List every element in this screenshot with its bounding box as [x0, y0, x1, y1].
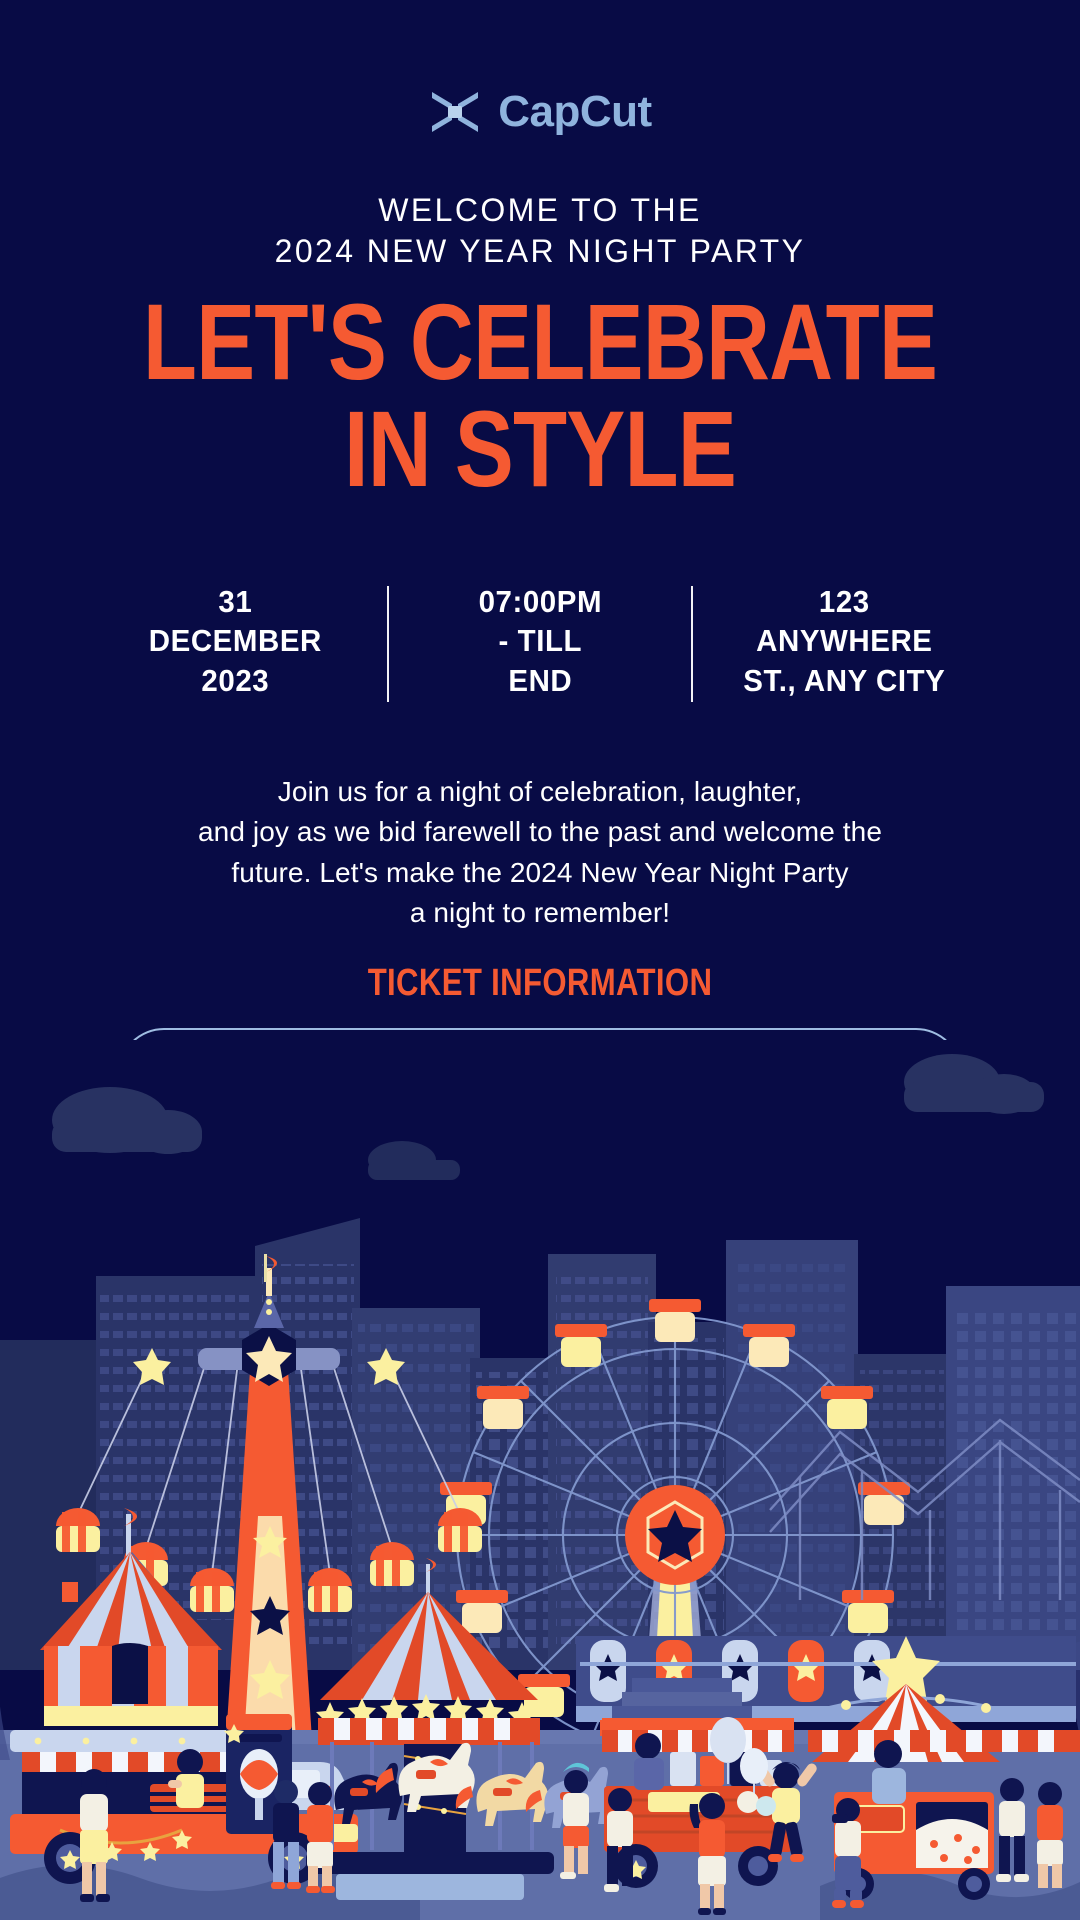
event-description: Join us for a night of celebration, laug… — [70, 772, 1010, 933]
headline-line-1: LET'S CELEBRATE — [97, 296, 983, 389]
welcome-heading: WELCOME TO THE 2024 NEW YEAR NIGHT PARTY — [0, 190, 1080, 272]
event-date-month: DECEMBER — [92, 621, 380, 660]
event-date-year: 2023 — [92, 661, 380, 700]
description-line-1: Join us for a night of celebration, laug… — [70, 772, 1010, 812]
event-location: 123 ANYWHERE ST., ANY CITY — [701, 582, 989, 704]
event-time-till: - TILL — [396, 621, 684, 660]
poster-canvas: CapCut WELCOME TO THE 2024 NEW YEAR NIGH… — [0, 0, 1080, 1920]
description-line-4: a night to remember! — [70, 893, 1010, 933]
event-location-street: ANYWHERE — [701, 621, 989, 660]
event-time: 07:00PM - TILL END — [396, 582, 684, 704]
headline-line-2: IN STYLE — [97, 403, 983, 496]
welcome-line-1: WELCOME TO THE — [0, 190, 1080, 231]
carnival-scene-svg — [0, 1040, 1080, 1920]
details-divider-2 — [691, 586, 693, 702]
event-time-start: 07:00PM — [396, 582, 684, 621]
capcut-logo-icon — [428, 88, 482, 136]
welcome-line-2: 2024 NEW YEAR NIGHT PARTY — [0, 231, 1080, 272]
night-carnival-illustration — [0, 1040, 1080, 1920]
ticket-information-label: TICKET INFORMATION — [97, 962, 983, 1005]
page-title: LET'S CELEBRATE IN STYLE — [0, 296, 1080, 496]
event-date: 31 DECEMBER 2023 — [92, 582, 380, 704]
event-location-number: 123 — [701, 582, 989, 621]
event-time-end: END — [396, 661, 684, 700]
details-divider-1 — [387, 586, 389, 702]
event-date-day: 31 — [92, 582, 380, 621]
event-location-city: ST., ANY CITY — [701, 661, 989, 700]
description-line-3: future. Let's make the 2024 New Year Nig… — [70, 853, 1010, 893]
capcut-wordmark: CapCut — [498, 90, 651, 134]
description-line-2: and joy as we bid farewell to the past a… — [70, 812, 1010, 852]
capcut-logo: CapCut — [0, 88, 1080, 136]
event-details-row: 31 DECEMBER 2023 07:00PM - TILL END 123 … — [84, 582, 996, 704]
